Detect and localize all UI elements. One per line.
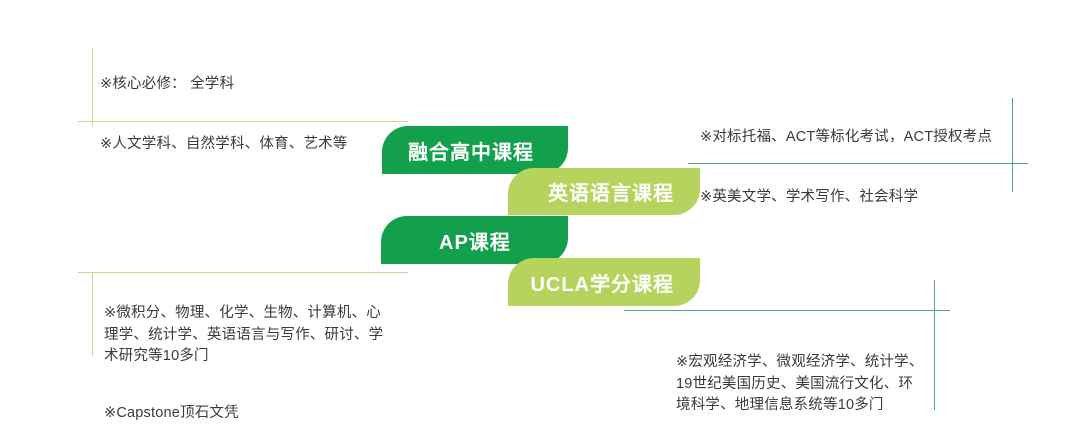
note-line: ※英美文学、学术写作、社会科学 (700, 186, 1020, 209)
banner-ucla-credit[interactable]: UCLA学分课程 (508, 258, 700, 306)
note-line: ※核心必修： 全学科 (100, 73, 430, 96)
banner-label: 融合高中课程 (408, 136, 534, 165)
bracket-top-left-vertical (92, 48, 93, 126)
note-line: ※对标托福、ACT等标化考试，ACT授权考点 (700, 126, 1020, 149)
note-english-language: ※对标托福、ACT等标化考试，ACT授权考点 ※英美文学、学术写作、社会科学 (700, 103, 1020, 233)
banner-label: AP课程 (439, 226, 511, 255)
note-ap: ※微积分、物理、化学、生物、计算机、心理学、统计学、英语语言与写作、研讨、学术研… (104, 281, 394, 429)
bracket-bottom-right-horizontal (624, 310, 950, 311)
banner-english-language[interactable]: 英语语言课程 (508, 168, 700, 215)
bracket-bottom-left-vertical (92, 272, 93, 356)
note-line: ※人文学科、自然学科、体育、艺术等 (100, 133, 430, 156)
note-paragraph: ※宏观经济学、微观经济学、统计学、19世纪美国历史、美国流行文化、环境科学、地理… (676, 352, 926, 417)
note-fusion-high-school: ※核心必修： 全学科 ※人文学科、自然学科、体育、艺术等 (100, 50, 430, 180)
banner-label: 英语语言课程 (548, 177, 674, 206)
bracket-bottom-right-vertical (934, 280, 935, 410)
note-line: ※Capstone顶石文凭 (104, 403, 394, 425)
diagram-canvas: ※核心必修： 全学科 ※人文学科、自然学科、体育、艺术等 ※对标托福、ACT等标… (0, 0, 1080, 429)
banner-fusion-high-school[interactable]: 融合高中课程 (382, 126, 568, 174)
note-ucla-credit: ※宏观经济学、微观经济学、统计学、19世纪美国历史、美国流行文化、环境科学、地理… (676, 330, 926, 429)
bracket-bottom-left-horizontal (78, 272, 408, 273)
banner-label: UCLA学分课程 (530, 268, 674, 297)
banner-ap[interactable]: AP课程 (381, 216, 568, 264)
note-paragraph: ※微积分、物理、化学、生物、计算机、心理学、统计学、英语语言与写作、研讨、学术研… (104, 303, 394, 368)
